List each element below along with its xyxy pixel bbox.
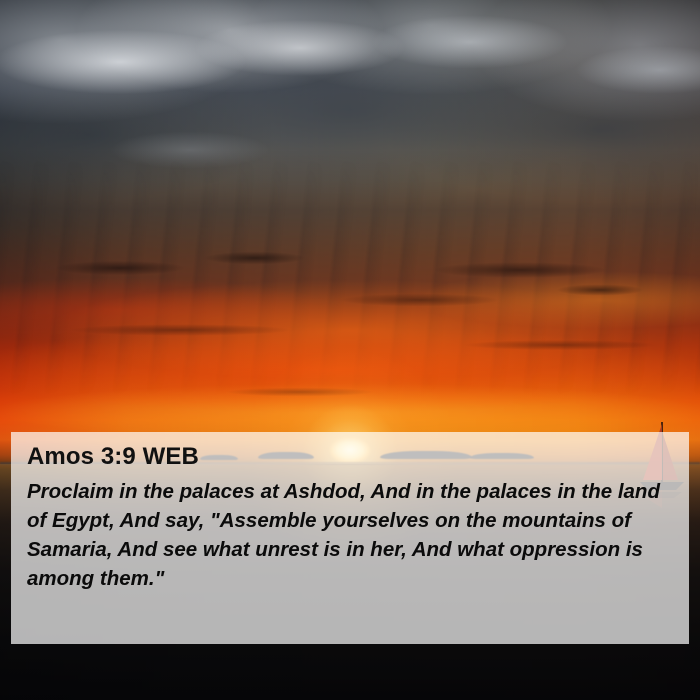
verse-text: Proclaim in the palaces at Ashdod, And i… (27, 477, 673, 593)
verse-caption-panel: Amos 3:9 WEB Proclaim in the palaces at … (11, 432, 689, 644)
verse-image-card: Amos 3:9 WEB Proclaim in the palaces at … (0, 0, 700, 700)
verse-reference: Amos 3:9 WEB (27, 444, 673, 471)
